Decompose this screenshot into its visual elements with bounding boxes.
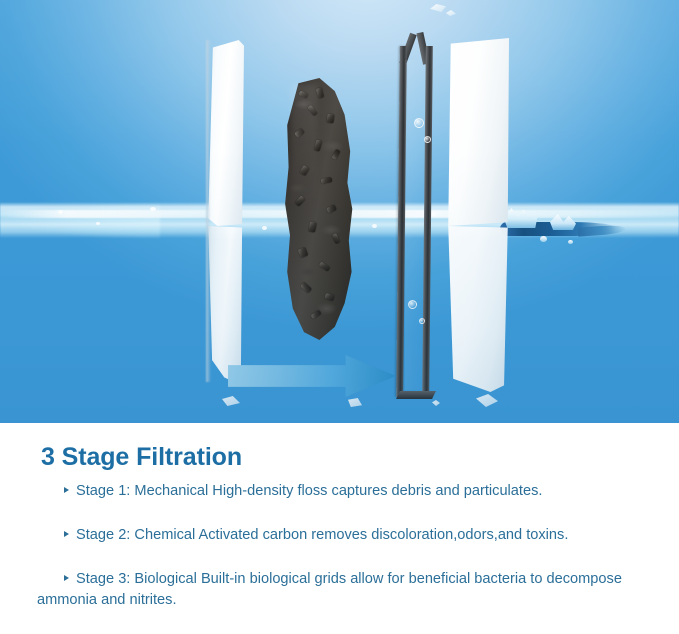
splash-droplet: [540, 236, 547, 242]
list-item-text: Stage 1: Mechanical High-density floss c…: [76, 483, 542, 499]
foam-bubble: [372, 224, 377, 228]
carbon-granule: [326, 114, 334, 124]
bubble: [424, 136, 431, 143]
feature-text-panel: 3 Stage Filtration Stage 1: Mechanical H…: [0, 423, 679, 634]
bubble: [419, 318, 425, 324]
bubble: [408, 300, 417, 309]
sponge-panel: [447, 38, 509, 392]
page-title: 3 Stage Filtration: [41, 443, 242, 472]
floss-pad-upper: [206, 40, 244, 226]
foam-bubble: [96, 222, 100, 225]
list-item: Stage 2: Chemical Activated carbon remov…: [0, 525, 679, 546]
bubble: [414, 118, 424, 128]
grid-frame-base: [396, 391, 436, 399]
splash-tail: [578, 224, 627, 236]
splash-crest: [504, 208, 538, 228]
list-item: Stage 3: Biological Built-in biological …: [0, 569, 679, 611]
water-chip: [432, 400, 440, 406]
water-chip: [476, 394, 498, 407]
water-chip: [222, 396, 240, 406]
sponge-panel-reflection: [447, 226, 509, 392]
feature-list: Stage 1: Mechanical High-density floss c…: [0, 481, 679, 634]
foam-bubble: [150, 207, 156, 211]
triangle-bullet-icon: [64, 531, 69, 537]
foam-bubble: [262, 226, 267, 230]
triangle-bullet-icon: [64, 575, 69, 581]
floss-pad-edge: [206, 40, 211, 382]
carbon-granule-mass: [283, 78, 353, 340]
splash-droplet: [568, 240, 573, 244]
hero-illustration: [0, 0, 679, 423]
product-feature-page: 3 Stage Filtration Stage 1: Mechanical H…: [0, 0, 679, 634]
water-chip: [446, 10, 456, 16]
filter-floss-pad: [202, 40, 246, 382]
water-splash: [492, 206, 632, 252]
grid-frame-sheen: [405, 60, 424, 390]
sponge-panel-upper: [447, 38, 509, 226]
list-item: Stage 1: Mechanical High-density floss c…: [0, 481, 679, 502]
floss-pad-reflection: [206, 226, 244, 382]
biological-grid: [396, 30, 442, 397]
grid-frame-rail-left: [396, 46, 407, 397]
flow-arrow: [228, 355, 396, 397]
triangle-bullet-icon: [64, 487, 69, 493]
water-chip: [348, 398, 362, 407]
foam-bubble: [58, 210, 63, 214]
list-item-text: Stage 3: Biological Built-in biological …: [37, 571, 622, 608]
list-item-text: Stage 2: Chemical Activated carbon remov…: [76, 527, 568, 543]
splash-crest-secondary: [550, 214, 576, 230]
water-chip: [430, 4, 446, 12]
activated-carbon: [283, 78, 353, 340]
grid-frame-rail-right: [422, 46, 433, 397]
